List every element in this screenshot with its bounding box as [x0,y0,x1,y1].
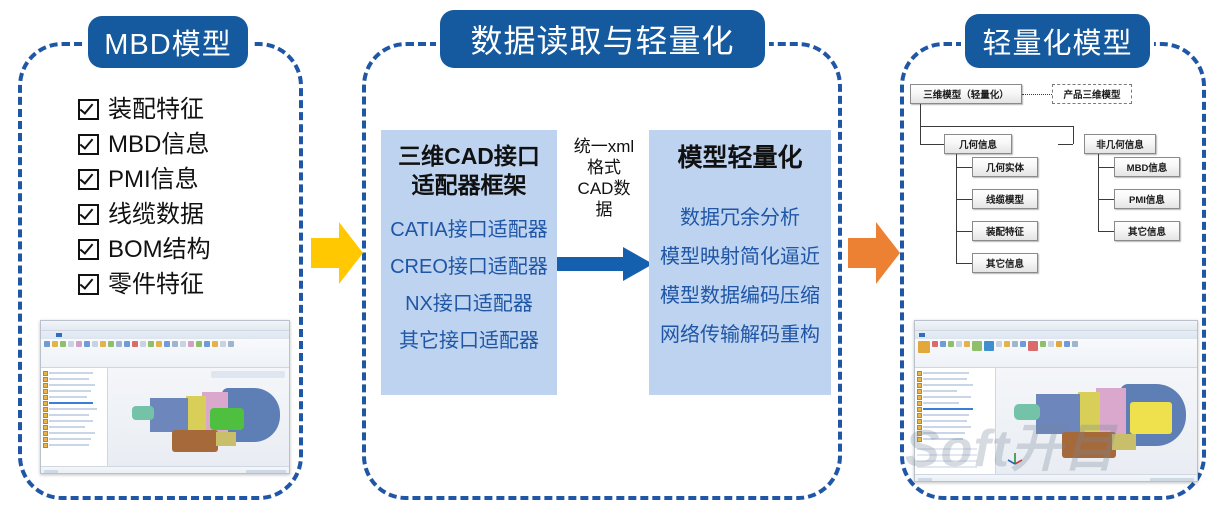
lightweight-item: 模型映射简化逼近 [649,238,831,277]
ribbon-icon [140,341,146,347]
checkbox-checked-icon [78,134,99,155]
cad-model-graphic [126,386,290,458]
list-item: MBD信息 [78,127,278,162]
panel-title-mbd-model: MBD模型 [88,16,248,68]
ribbon-tab [100,333,106,337]
viewport-toolbar[interactable] [211,371,285,378]
adapter-framework-title: 三维CAD接口 适配器框架 [381,130,557,200]
ribbon-tab [974,333,980,337]
ribbon-tab [45,333,51,337]
tree-node-geometry-info: 几何信息 [944,134,1012,154]
cad-model-graphic [1008,382,1198,464]
ribbon-icon [932,341,938,347]
tree-connector [956,167,972,168]
ribbon-icon [60,341,66,347]
screenshot-lightweight-viewer [914,320,1198,482]
orange-block-arrow-icon [848,222,900,284]
tree-connector [956,231,972,232]
model-tree-panel[interactable] [41,368,108,466]
panel-title-lightweight-model: 轻量化模型 [965,14,1150,68]
ribbon-icon [124,341,130,347]
ribbon-tab [67,333,73,337]
adapter-item: CREO接口适配器 [381,249,557,286]
list-item: 线缆数据 [78,197,278,232]
ribbon-tab [952,333,958,337]
ribbon-icon [1028,341,1038,351]
lightweight-item: 模型数据编码压缩 [649,277,831,316]
ribbon-icon [172,341,178,347]
status-chip [246,470,286,474]
list-item: BOM结构 [78,232,278,267]
ribbon-tab-active [56,333,62,337]
tree-leaf-geometry-entity: 几何实体 [972,157,1038,177]
ribbon-icon [116,341,122,347]
axis-triad-icon [1006,450,1024,468]
ribbon-icon [100,341,106,347]
tree-node-root: 三维模型（轻量化） [910,84,1022,104]
ribbon-icon [188,341,194,347]
ribbon-tab [111,333,117,337]
ribbon-icon [1072,341,1078,347]
tree-connector [920,126,1073,127]
ribbon-icon [1056,341,1062,347]
model-lightweight-title: 模型轻量化 [649,130,831,173]
tree-connector [1098,231,1114,232]
ribbon-icon [52,341,58,347]
ribbon-icon [1048,341,1054,347]
ribbon-icon-group [41,339,289,349]
list-item: 装配特征 [78,92,278,127]
ribbon-icon [1012,341,1018,347]
lightweight-item-list: 数据冗余分析 模型映射简化逼近 模型数据编码压缩 网络传输解码重构 [649,199,831,355]
ribbon-icon [956,341,962,347]
ribbon-tab [89,333,95,337]
lightweight-item: 数据冗余分析 [649,199,831,238]
cad-viewport[interactable] [996,368,1197,474]
ribbon-tab [941,333,947,337]
model-lightweight-box: 模型轻量化 数据冗余分析 模型映射简化逼近 模型数据编码压缩 网络传输解码重构 [649,130,831,395]
ribbon-tab [930,333,936,337]
tree-connector [920,126,921,144]
window-titlebar [915,321,1197,331]
ribbon-icon [1020,341,1026,347]
checkbox-checked-icon [78,274,99,295]
ribbon-icon [76,341,82,347]
ribbon-toolbar [41,331,289,368]
tree-connector [1098,199,1114,200]
tree-row[interactable] [43,442,105,448]
checkbox-checked-icon [78,99,99,120]
ribbon-icon [972,341,982,351]
window-body [915,368,1197,474]
adapter-item-list: CATIA接口适配器 CREO接口适配器 NX接口适配器 其它接口适配器 [381,212,557,360]
ribbon-icon [1004,341,1010,347]
tree-connector [956,154,957,264]
cad-viewport[interactable] [108,368,289,466]
status-chip [44,470,58,474]
tree-node-product-model: 产品三维模型 [1052,84,1132,104]
tree-leaf-other-info-right: 其它信息 [1114,221,1180,241]
ribbon-icon [996,341,1002,347]
ribbon-tabs [41,331,289,339]
ribbon-icon [68,341,74,347]
tree-leaf-cable-model: 线缆模型 [972,189,1038,209]
ribbon-icon [948,341,954,347]
yellow-block-arrow-icon [311,222,363,284]
tree-leaf-assembly-feature: 装配特征 [972,221,1038,241]
tree-leaf-mbd-info: MBD信息 [1114,157,1180,177]
ribbon-icon [964,341,970,347]
ribbon-icon [180,341,186,347]
model-tree-panel[interactable] [915,368,996,474]
ribbon-icon [204,341,210,347]
adapter-item: NX接口适配器 [381,286,557,323]
ribbon-icon [44,341,50,347]
ribbon-icon [132,341,138,347]
tree-leaf-other-info-left: 其它信息 [972,253,1038,273]
ribbon-tab [963,333,969,337]
ribbon-icon-group [915,339,1197,355]
checkbox-checked-icon [78,239,99,260]
window-body [41,368,289,466]
tree-connector [1098,154,1099,232]
tree-connector [920,104,921,126]
ribbon-icon [220,341,226,347]
ribbon-icon [148,341,154,347]
list-item: PMI信息 [78,162,278,197]
tree-leaf-pmi-info: PMI信息 [1114,189,1180,209]
ribbon-icon [1064,341,1070,347]
property-row [917,464,993,470]
lightweight-item: 网络传输解码重构 [649,316,831,355]
ribbon-icon [156,341,162,347]
ribbon-icon [918,341,930,353]
ribbon-icon [108,341,114,347]
connector-label-xml-cad-data: 统一xml 格式 CAD数 据 [563,136,645,220]
ribbon-icon [92,341,98,347]
tree-node-nongeometry-info: 非几何信息 [1084,134,1156,154]
screenshot-cad-assembly [40,320,290,474]
ribbon-toolbar [915,331,1197,368]
tree-connector [920,144,944,145]
ribbon-tab-active [919,333,925,337]
panel-title-data-read-lightweight: 数据读取与轻量化 [440,10,765,68]
arrow-middle-to-right [848,222,900,289]
tree-connector [1058,144,1073,145]
adapter-item: CATIA接口适配器 [381,212,557,249]
ribbon-icon [212,341,218,347]
status-chip [918,478,932,482]
arrow-left-to-middle [311,222,363,289]
arrow-adapter-to-lightweight [557,246,653,287]
tree-connector [956,199,972,200]
lightweight-model-tree: 三维模型（轻量化） 产品三维模型 几何信息 非几何信息 几何实体 线缆模型 装配… [908,84,1200,304]
checkbox-checked-icon [78,204,99,225]
ribbon-icon [228,341,234,347]
checkbox-checked-icon [78,169,99,190]
ribbon-icon [164,341,170,347]
adapter-item: 其它接口适配器 [381,323,557,360]
ribbon-icon [984,341,994,351]
list-item: 零件特征 [78,267,278,302]
status-bar [41,466,289,474]
ribbon-icon [940,341,946,347]
tree-connector-dotted [1022,94,1052,95]
ribbon-icon [84,341,90,347]
ribbon-tabs [915,331,1197,339]
status-bar [915,474,1197,482]
tree-connector [1073,126,1074,144]
window-titlebar [41,321,289,331]
blue-block-arrow-icon [557,246,653,282]
tree-connector [956,263,972,264]
ribbon-icon [196,341,202,347]
tree-connector [1098,167,1114,168]
adapter-framework-box: 三维CAD接口 适配器框架 CATIA接口适配器 CREO接口适配器 NX接口适… [381,130,557,395]
mbd-checklist: 装配特征 MBD信息 PMI信息 线缆数据 BOM结构 零件特征 [78,92,278,302]
status-chip [1150,478,1194,482]
diagram-canvas: MBD模型 装配特征 MBD信息 PMI信息 线缆数据 BOM结构 零件特征 [0,0,1221,517]
ribbon-tab [78,333,84,337]
ribbon-icon [1040,341,1046,347]
